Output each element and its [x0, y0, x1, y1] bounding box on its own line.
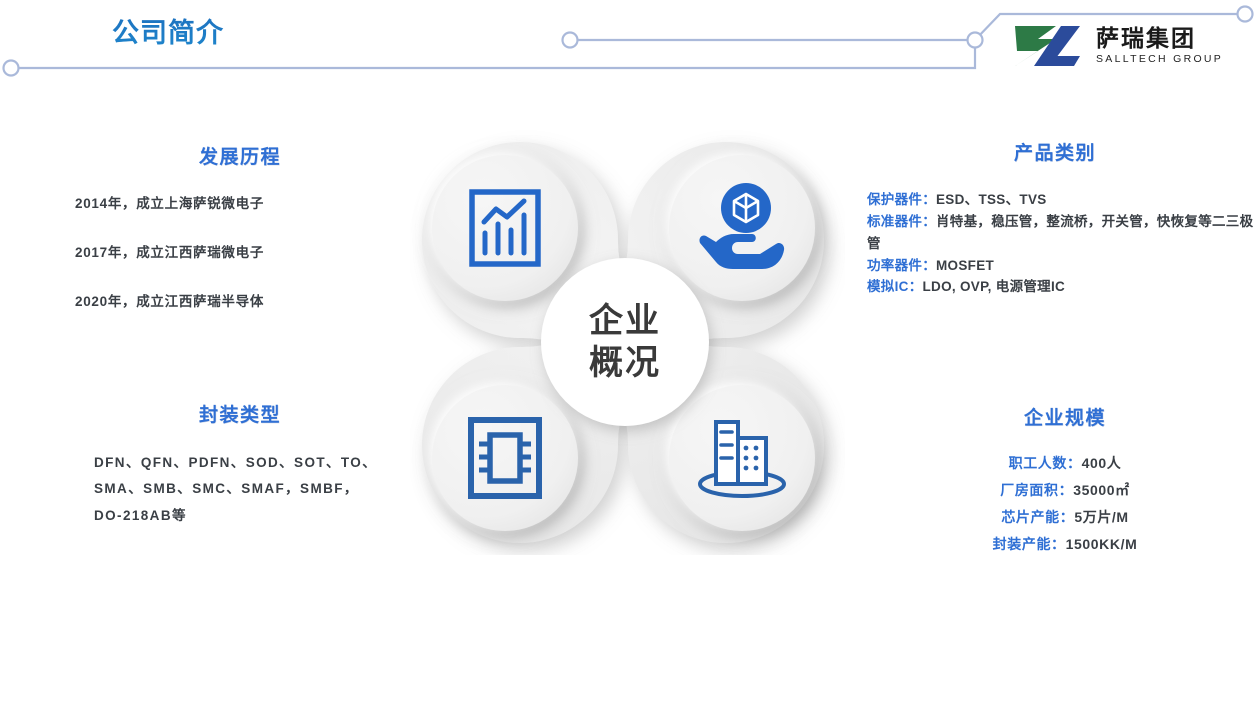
section-development-history: 发展历程 2014年，成立上海萨锐微电子 2017年，成立江西萨瑞微电子 202…: [75, 142, 405, 341]
product-category-row: 模拟IC：LDO, OVP, 电源管理IC: [867, 276, 1255, 298]
scale-row: 封装产能：1500KK/M: [875, 531, 1255, 558]
section-enterprise-scale: 企业规模 职工人数：400人 厂房面积：35000㎡ 芯片产能：5万片/M 封装…: [875, 403, 1255, 558]
logo-name-en: SALLTECH GROUP: [1096, 53, 1223, 65]
scale-value: 5万片/M: [1074, 509, 1128, 525]
history-item: 2017年，成立江西萨瑞微电子: [75, 243, 405, 264]
section-heading: 发展历程: [75, 142, 405, 169]
product-category-row: 标准器件：肖特基，稳压管，整流桥，开关管，快恢复等二三极管: [867, 211, 1255, 255]
scale-value: 1500KK/M: [1066, 536, 1138, 552]
scale-value: 400人: [1082, 455, 1122, 471]
center-label-line1: 企业: [589, 301, 661, 341]
node-circle-chart: [432, 155, 578, 301]
history-list: 2014年，成立上海萨锐微电子 2017年，成立江西萨瑞微电子 2020年，成立…: [75, 194, 405, 313]
product-category-value: LDO, OVP, 电源管理IC: [923, 279, 1066, 294]
page-title: 公司简介: [112, 11, 224, 50]
center-circle: [541, 258, 709, 426]
salltech-logo-icon: [1012, 23, 1088, 69]
product-category-label: 模拟IC：: [867, 279, 923, 294]
section-package-types: 封装类型 DFN、QFN、PDFN、SOD、SOT、TO、SMA、SMB、SMC…: [75, 400, 405, 529]
center-label-line2: 概况: [589, 343, 661, 383]
product-category-label: 标准器件：: [867, 214, 936, 229]
section-product-categories: 产品类别 保护器件：ESD、TSS、TVS 标准器件：肖特基，稳压管，整流桥，开…: [855, 138, 1255, 298]
scale-row: 厂房面积：35000㎡: [875, 477, 1255, 504]
enterprise-scale-list: 职工人数：400人 厂房面积：35000㎡ 芯片产能：5万片/M 封装产能：15…: [875, 450, 1255, 558]
product-category-list: 保护器件：ESD、TSS、TVS 标准器件：肖特基，稳压管，整流桥，开关管，快恢…: [855, 189, 1255, 298]
scale-row: 芯片产能：5万片/M: [875, 504, 1255, 531]
logo-name-cn: 萨瑞集团: [1096, 27, 1223, 51]
product-category-label: 功率器件：: [867, 258, 936, 273]
section-heading: 产品类别: [855, 138, 1255, 165]
section-heading: 封装类型: [75, 400, 405, 427]
history-item: 2020年，成立江西萨瑞半导体: [75, 292, 405, 313]
scale-label: 芯片产能：: [1001, 509, 1074, 525]
deco-dot-right: [1238, 7, 1253, 22]
enterprise-overview-diagram: 企业 概况: [410, 130, 845, 555]
history-item: 2014年，成立上海萨锐微电子: [75, 194, 405, 215]
section-heading: 企业规模: [875, 403, 1255, 430]
scale-label: 职工人数：: [1009, 455, 1082, 471]
scale-label: 封装产能：: [993, 536, 1066, 552]
scale-row: 职工人数：400人: [875, 450, 1255, 477]
scale-label: 厂房面积：: [1000, 482, 1073, 498]
scale-value: 35000㎡: [1073, 482, 1130, 498]
slide-canvas: 公司简介 萨瑞集团 SALLTECH GROUP 发展历程 2014年，成立上海…: [0, 0, 1255, 706]
company-logo: 萨瑞集团 SALLTECH GROUP: [1012, 22, 1244, 70]
deco-dot-mid: [563, 33, 578, 48]
package-types-text: DFN、QFN、PDFN、SOD、SOT、TO、SMA、SMB、SMC、SMAF…: [75, 450, 405, 529]
deco-dot-junction: [968, 33, 983, 48]
product-category-row: 保护器件：ESD、TSS、TVS: [867, 189, 1255, 211]
product-category-row: 功率器件：MOSFET: [867, 255, 1255, 277]
node-circle-chip: [432, 385, 578, 531]
product-category-label: 保护器件：: [867, 192, 936, 207]
diagram-svg: 企业 概况: [410, 130, 845, 555]
product-category-value: MOSFET: [936, 258, 994, 273]
deco-dot-left: [4, 61, 19, 76]
product-category-value: ESD、TSS、TVS: [936, 192, 1047, 207]
